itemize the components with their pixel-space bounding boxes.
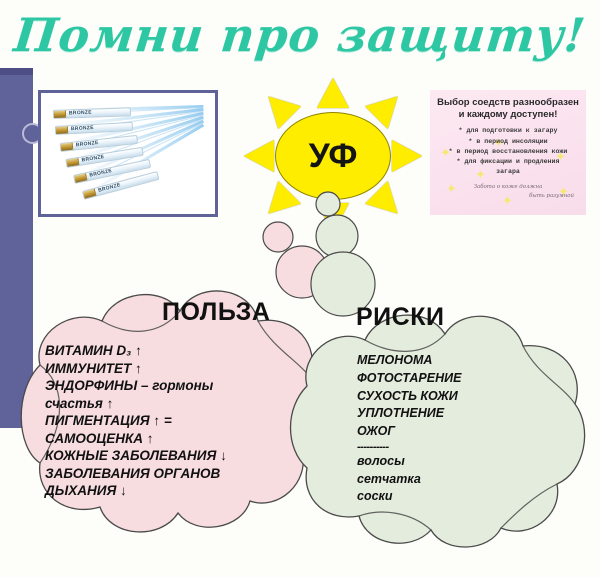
lamp-tube: BRONZE [53,107,131,119]
list-item: * в период восстановления кожи [435,147,581,157]
info-card-heading-line1: Выбор соедств разнообразен [436,97,580,109]
lamp-cap-icon [61,143,74,151]
poster-canvas: Помни про защиту! [0,0,600,577]
lamp-cap-icon [56,126,68,134]
page-title: Помни про защиту! [0,8,600,62]
uv-lamp-photo: BRONZE BRONZE BRONZE BRONZE BRONZE BRONZ… [38,90,218,217]
lamp-brand-label: BRONZE [66,111,92,117]
lamp-brand-label: BRONZE [78,155,104,164]
sun-core: УФ [275,112,391,200]
list-item: * для подготовки к загару [435,126,581,136]
lamp-tube-group: BRONZE BRONZE BRONZE BRONZE BRONZE BRONZ… [41,93,215,214]
list-item: загара [435,167,581,177]
info-card-list: * для подготовки к загару * в период инс… [430,126,586,177]
list-item: СУХОСТЬ КОЖИ [357,388,577,406]
list-item: ОЖОГ [357,423,577,441]
benefits-title-label: ПОЛЬЗА [162,298,270,326]
sun-label: УФ [309,139,358,173]
lamp-tube: BRONZE [55,122,133,135]
list-separator: ---------- [357,441,577,453]
sun-ray-icon [392,140,422,172]
benefits-title: ПОЛЬЗА [162,298,270,327]
sun-ray-icon [317,78,349,108]
risks-title: РИСКИ [356,303,444,332]
list-item: сетчатка [357,471,577,489]
sidebar-bar-cap [0,68,33,75]
risks-cloud: РИСКИ МЕЛОНОМА ФОТОСТАРЕНИЕ СУХОСТЬ КОЖИ… [285,196,595,556]
lamp-cap-icon [66,158,79,167]
lamp-brand-label: BRONZE [86,169,112,179]
lamp-cap-icon [54,111,66,118]
sun-ray-icon [244,140,274,172]
list-item: МЕЛОНОМА [357,352,577,370]
info-card-heading: Выбор соедств разнообразен и каждому дос… [430,90,586,121]
lamp-brand-label: BRONZE [95,183,121,195]
list-item: УПЛОТНЕНИЕ [357,405,577,423]
list-item: ФОТОСТАРЕНИЕ [357,370,577,388]
list-item: волосы [357,453,577,471]
risks-list: МЕЛОНОМА ФОТОСТАРЕНИЕ СУХОСТЬ КОЖИ УПЛОТ… [357,352,577,506]
info-card-heading-line2: и каждому доступен! [436,109,580,121]
list-item: * в период инсоляции [435,137,581,147]
lamp-brand-label: BRONZE [68,126,94,132]
risks-title-label: РИСКИ [356,303,444,331]
list-item: соски [357,488,577,506]
signature-line-1: Забота о коже должна [438,183,578,191]
list-item: * для фиксации и продления [435,157,581,167]
lamp-brand-label: BRONZE [73,141,99,149]
